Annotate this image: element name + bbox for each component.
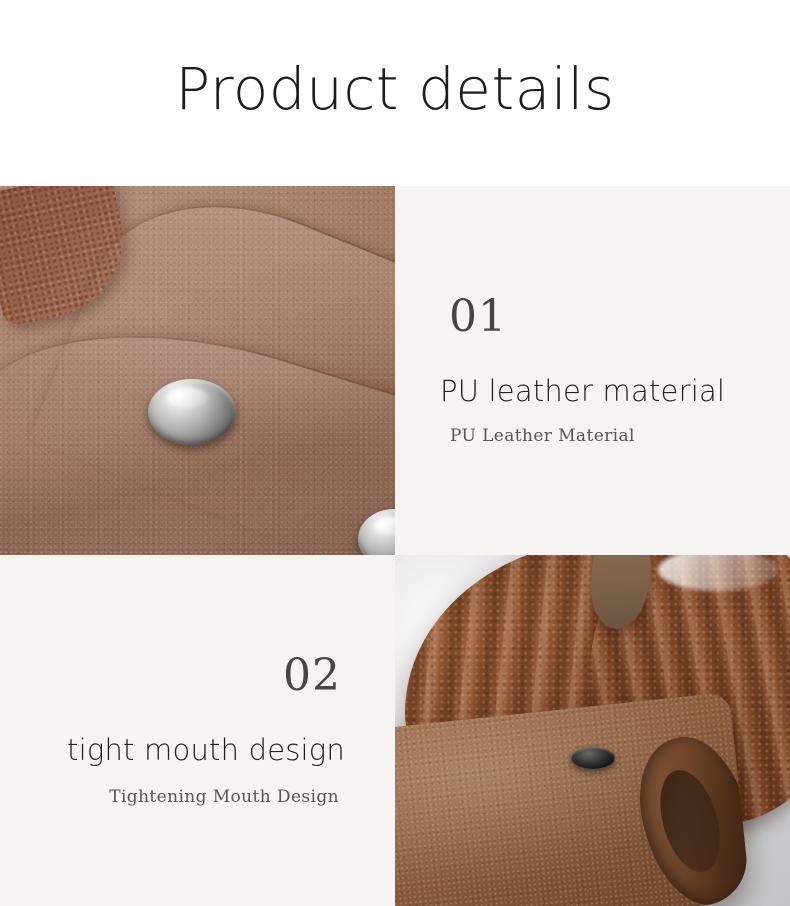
product-details-page: Product details 01 PU leather material P… [0,0,790,906]
leather-cuff-flap [395,692,751,906]
feature-title-02: tight mouth design [67,734,345,767]
feature-subtitle-01: PU Leather Material [450,426,635,446]
dark-snap-button-icon [571,747,615,769]
feature-subtitle-02: Tightening Mouth Design [109,787,339,807]
feature-image-02 [395,555,790,906]
feature-image-01 [0,186,395,555]
feature-number-02: 02 [283,654,341,698]
page-title: Product details [175,60,614,118]
feature-row-01: 01 PU leather material PU Leather Materi… [0,186,790,555]
feature-text-panel-02: 02 tight mouth design Tightening Mouth D… [0,555,395,906]
ruched-fabric-photo [395,555,790,906]
page-header: Product details [0,0,790,186]
feature-text-panel-01: 01 PU leather material PU Leather Materi… [395,186,790,555]
leather-photo [0,186,395,555]
metal-snap-button-icon [148,379,236,445]
feature-number-01: 01 [449,295,507,339]
feature-row-02: 02 tight mouth design Tightening Mouth D… [0,555,790,906]
feature-title-01: PU leather material [440,375,725,408]
